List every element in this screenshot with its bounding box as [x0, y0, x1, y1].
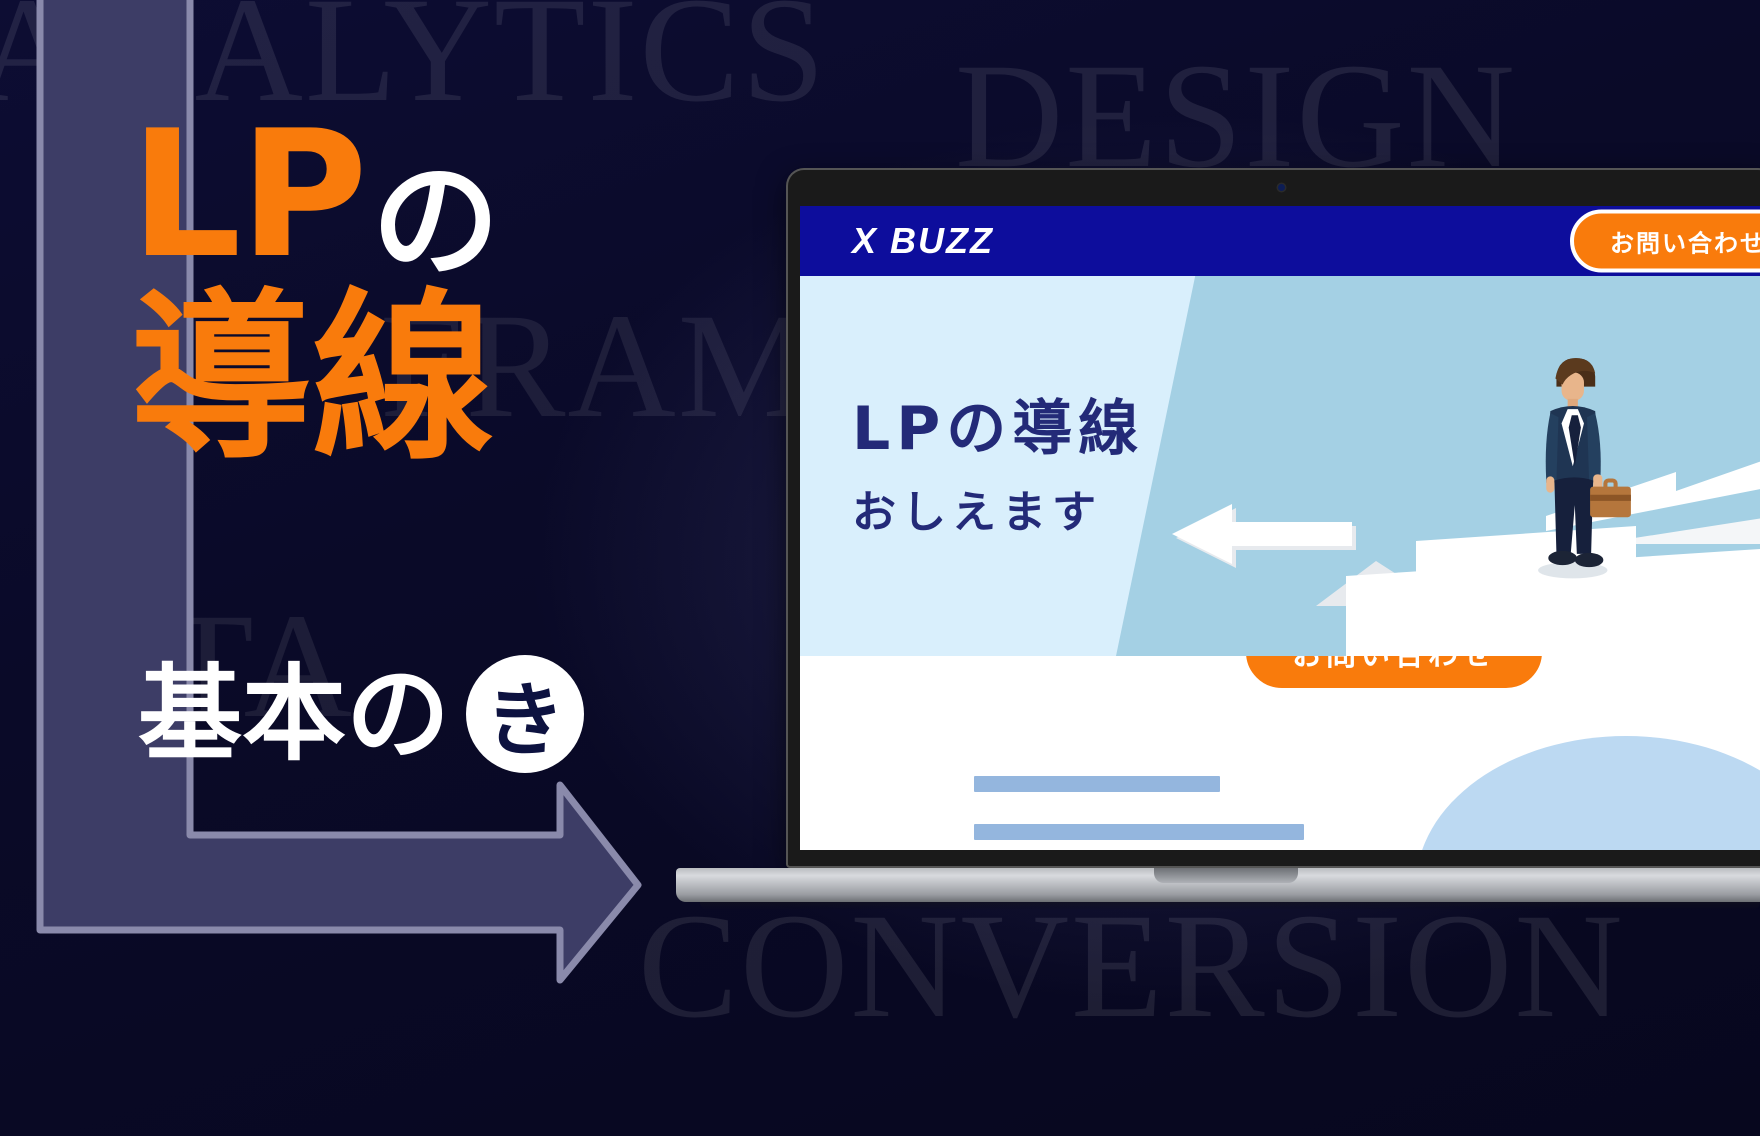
page-title: LPの 導線: [130, 108, 770, 477]
headline-line-2: 導線: [130, 280, 770, 477]
decorative-blob: [1416, 736, 1760, 850]
placeholder-line-2: [974, 824, 1304, 840]
laptop-mockup: X BUZZ お問い合わせ: [676, 168, 1760, 920]
hero-subtitle: おしえます: [852, 476, 1144, 540]
businessman-crossroads-illustration: [1116, 276, 1760, 656]
subtitle-text: 基本の: [138, 662, 450, 766]
site-hero: LPの導線 おしえます: [800, 276, 1760, 656]
headline-lp: LP: [130, 94, 366, 297]
site-navbar: X BUZZ お問い合わせ: [800, 206, 1760, 276]
subtitle-circle-badge: き: [466, 655, 584, 773]
poster-canvas: ANALYTICS DESIGN FRAME CTA CONVERSION LP…: [0, 0, 1760, 1136]
laptop-base-notch: [1154, 868, 1298, 883]
hero-copy: LPの導線 おしえます: [852, 396, 1144, 540]
hero-contact-button[interactable]: お問い合わせ: [1240, 656, 1548, 694]
nav-contact-button[interactable]: お問い合わせ: [1570, 210, 1760, 273]
webcam-icon: [1278, 184, 1285, 191]
laptop-bezel-top: [786, 168, 1760, 206]
hero-illustration: [1116, 276, 1760, 656]
placeholder-line-1: [974, 776, 1220, 792]
headline-line-1: LPの: [130, 108, 770, 286]
laptop-base: [676, 868, 1760, 902]
hero-title: LPの導線: [852, 396, 1144, 462]
site-logo: X BUZZ: [852, 220, 994, 262]
laptop-lid: X BUZZ お問い合わせ: [786, 168, 1760, 868]
page-subtitle: 基本の き: [138, 655, 584, 773]
site-body: お問い合わせ: [800, 656, 1760, 850]
laptop-screen: X BUZZ お問い合わせ: [800, 206, 1760, 850]
